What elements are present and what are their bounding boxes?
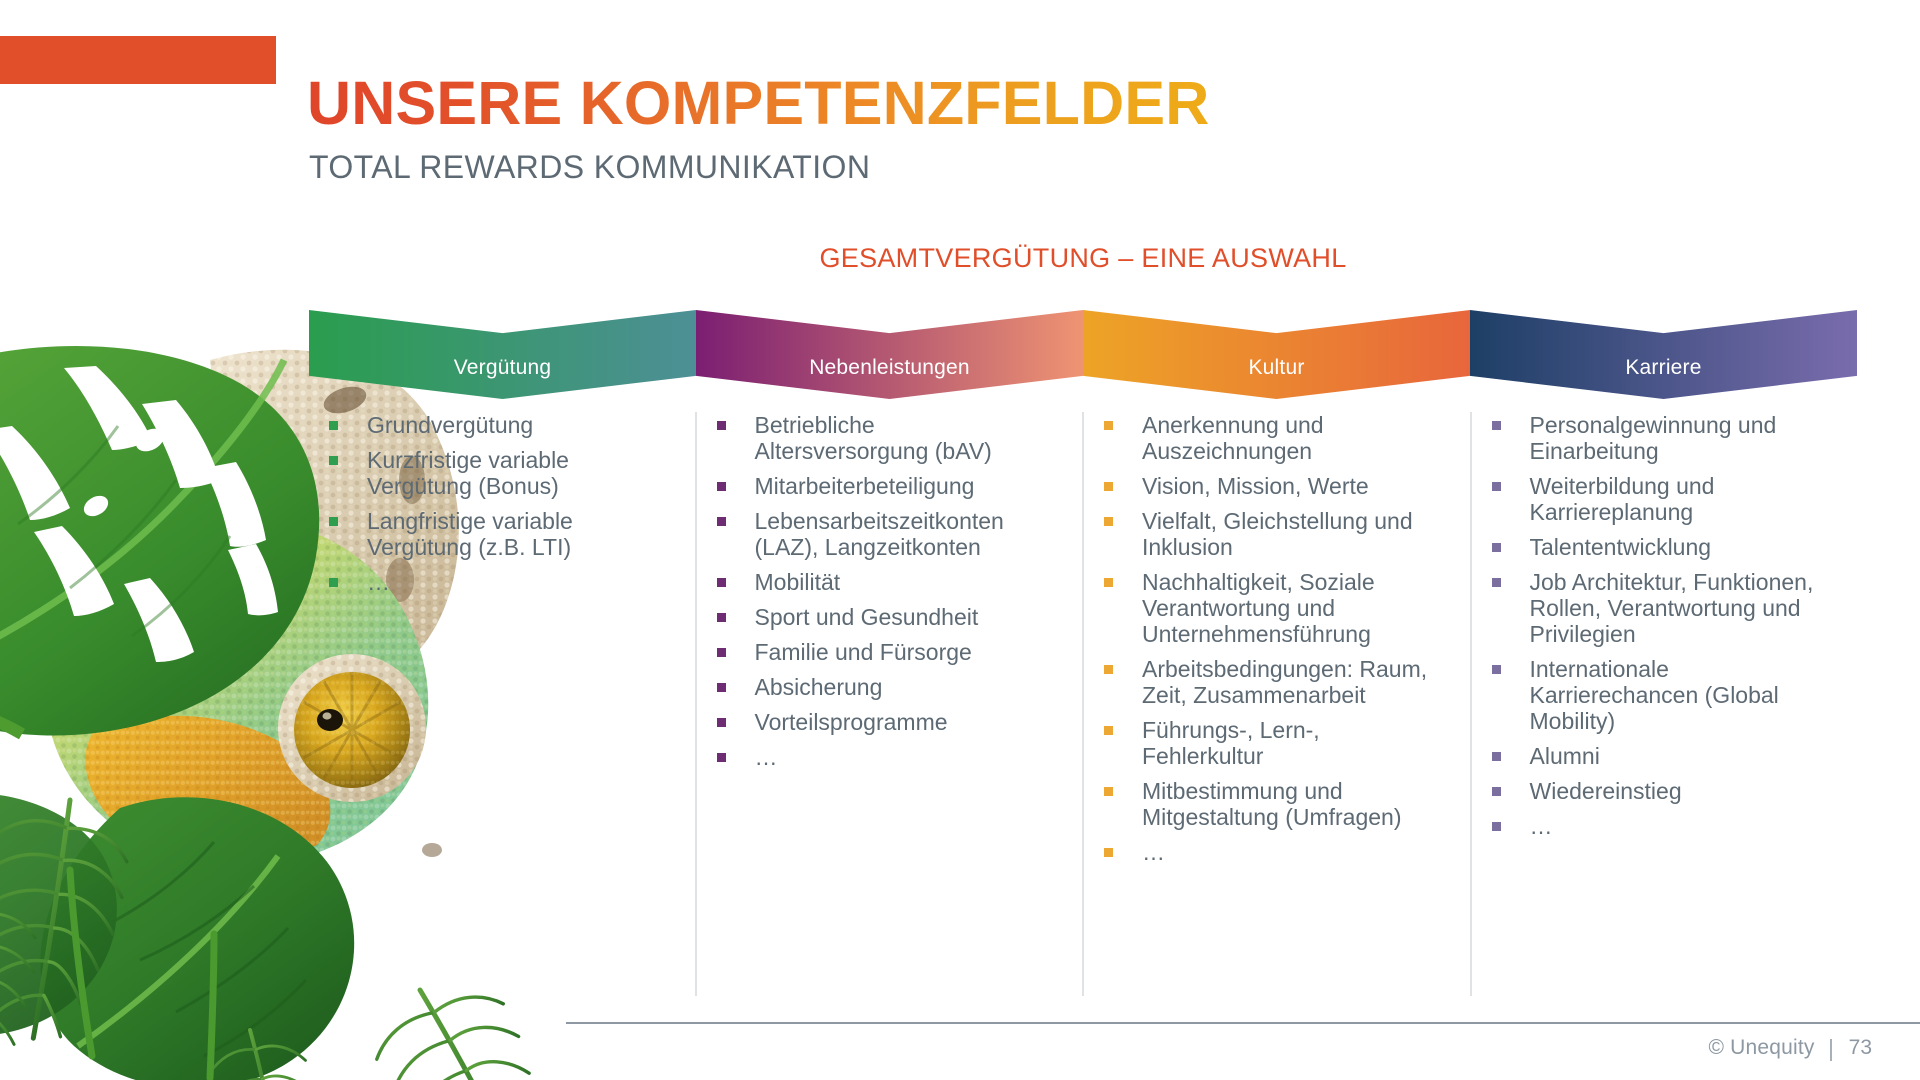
list-item-label: Grundvergütung xyxy=(367,412,533,438)
list-item: … xyxy=(327,569,661,595)
footer-separator xyxy=(1830,1039,1832,1061)
list-item-label: Internationale Karrierechancen (Global M… xyxy=(1530,656,1779,734)
list-item: Langfristige variable Vergütung (z.B. LT… xyxy=(327,508,661,560)
list-item-label: Nachhaltigkeit, Soziale Verantwortung un… xyxy=(1142,569,1375,647)
category-banner-3[interactable]: Kultur xyxy=(1083,310,1470,399)
square-bullet-icon xyxy=(1492,787,1501,796)
page-number: 73 xyxy=(1849,1036,1872,1060)
square-bullet-icon xyxy=(717,613,726,622)
category-column-3: Anerkennung und AuszeichnungenVision, Mi… xyxy=(1082,412,1470,996)
list-item: Wiedereinstieg xyxy=(1490,778,1824,804)
page-subtitle: TOTAL REWARDS KOMMUNIKATION xyxy=(309,149,870,186)
category-banner-2[interactable]: Nebenleistungen xyxy=(696,310,1083,399)
list-item: Grundvergütung xyxy=(327,412,661,438)
list-item-label: Job Architektur, Funktionen, Rollen, Ver… xyxy=(1530,569,1814,647)
square-bullet-icon xyxy=(1492,482,1501,491)
list-item: … xyxy=(1490,813,1824,839)
footer-divider xyxy=(566,1022,1920,1024)
category-banner-label: Karriere xyxy=(1625,357,1701,399)
copyright-label: © Unequity xyxy=(1708,1036,1814,1060)
square-bullet-icon xyxy=(1492,543,1501,552)
square-bullet-icon xyxy=(329,421,338,430)
square-bullet-icon xyxy=(717,578,726,587)
bullet-list: Personalgewinnung und EinarbeitungWeiter… xyxy=(1490,412,1824,839)
list-item-label: Vorteilsprogramme xyxy=(755,709,948,735)
square-bullet-icon xyxy=(1104,517,1113,526)
square-bullet-icon xyxy=(329,517,338,526)
square-bullet-icon xyxy=(1104,726,1113,735)
category-column-2: Betriebliche Altersversorgung (bAV)Mitar… xyxy=(695,412,1083,996)
list-item: Job Architektur, Funktionen, Rollen, Ver… xyxy=(1490,569,1824,647)
list-item-label: Absicherung xyxy=(755,674,883,700)
list-item: Familie und Fürsorge xyxy=(715,639,1049,665)
title-accent-bar xyxy=(0,36,276,84)
list-item: Weiterbildung und Karriereplanung xyxy=(1490,473,1824,525)
square-bullet-icon xyxy=(1104,578,1113,587)
bullet-list: Betriebliche Altersversorgung (bAV)Mitar… xyxy=(715,412,1049,770)
list-item: Führungs-, Lern-, Fehlerkultur xyxy=(1102,717,1436,769)
list-item: Sport und Gesundheit xyxy=(715,604,1049,630)
list-item: Alumni xyxy=(1490,743,1824,769)
list-item-label: … xyxy=(1530,813,1553,839)
square-bullet-icon xyxy=(717,683,726,692)
category-column-1: GrundvergütungKurzfristige variable Verg… xyxy=(309,412,695,996)
category-banner-row: VergütungNebenleistungenKulturKarriere xyxy=(309,310,1857,399)
category-banner-label: Nebenleistungen xyxy=(809,357,970,399)
square-bullet-icon xyxy=(1104,787,1113,796)
bullet-list: Anerkennung und AuszeichnungenVision, Mi… xyxy=(1102,412,1436,865)
list-item-label: Anerkennung und Auszeichnungen xyxy=(1142,412,1324,464)
page-title: UNSERE KOMPETENZFELDER xyxy=(307,73,1210,134)
list-item-label: Mobilität xyxy=(755,569,841,595)
square-bullet-icon xyxy=(1104,482,1113,491)
list-item-label: Vision, Mission, Werte xyxy=(1142,473,1369,499)
list-item: Vision, Mission, Werte xyxy=(1102,473,1436,499)
square-bullet-icon xyxy=(717,517,726,526)
list-item: Kurzfristige variable Vergütung (Bonus) xyxy=(327,447,661,499)
list-item-label: Kurzfristige variable Vergütung (Bonus) xyxy=(367,447,569,499)
square-bullet-icon xyxy=(1492,665,1501,674)
list-item-label: Weiterbildung und Karriereplanung xyxy=(1530,473,1715,525)
list-item-label: … xyxy=(755,744,778,770)
list-item: Nachhaltigkeit, Soziale Verantwortung un… xyxy=(1102,569,1436,647)
category-column-4: Personalgewinnung und EinarbeitungWeiter… xyxy=(1470,412,1858,996)
list-item: Mobilität xyxy=(715,569,1049,595)
square-bullet-icon xyxy=(717,421,726,430)
list-item-label: … xyxy=(367,569,390,595)
list-item: Internationale Karrierechancen (Global M… xyxy=(1490,656,1824,734)
square-bullet-icon xyxy=(1492,752,1501,761)
square-bullet-icon xyxy=(717,482,726,491)
list-item: Lebensarbeitszeitkonten (LAZ), Langzeitk… xyxy=(715,508,1049,560)
list-item: Vielfalt, Gleichstellung und Inklusion xyxy=(1102,508,1436,560)
list-item-label: Langfristige variable Vergütung (z.B. LT… xyxy=(367,508,573,560)
list-item: Personalgewinnung und Einarbeitung xyxy=(1490,412,1824,464)
square-bullet-icon xyxy=(329,456,338,465)
square-bullet-icon xyxy=(1104,665,1113,674)
square-bullet-icon xyxy=(717,753,726,762)
list-item: … xyxy=(1102,839,1436,865)
list-item: Arbeitsbedingungen: Raum, Zeit, Zusammen… xyxy=(1102,656,1436,708)
list-item-label: … xyxy=(1142,839,1165,865)
category-banner-1[interactable]: Vergütung xyxy=(309,310,696,399)
slide-canvas: UNSERE KOMPETENZFELDER TOTAL REWARDS KOM… xyxy=(0,0,1920,1080)
list-item: Betriebliche Altersversorgung (bAV) xyxy=(715,412,1049,464)
list-item-label: Vielfalt, Gleichstellung und Inklusion xyxy=(1142,508,1413,560)
list-item-label: Mitarbeiterbeteiligung xyxy=(755,473,975,499)
category-banner-label: Kultur xyxy=(1248,357,1304,399)
list-item: Mitarbeiterbeteiligung xyxy=(715,473,1049,499)
list-item-label: Talententwicklung xyxy=(1530,534,1712,560)
list-item-label: Wiedereinstieg xyxy=(1530,778,1682,804)
list-item-label: Personalgewinnung und Einarbeitung xyxy=(1530,412,1777,464)
list-item-label: Führungs-, Lern-, Fehlerkultur xyxy=(1142,717,1320,769)
square-bullet-icon xyxy=(1104,848,1113,857)
list-item: … xyxy=(715,744,1049,770)
category-banner-4[interactable]: Karriere xyxy=(1470,310,1857,399)
list-item-label: Mitbestimmung und Mitgestaltung (Umfrage… xyxy=(1142,778,1402,830)
list-item-label: Lebensarbeitszeitkonten (LAZ), Langzeitk… xyxy=(755,508,1004,560)
square-bullet-icon xyxy=(1492,421,1501,430)
category-columns: GrundvergütungKurzfristige variable Verg… xyxy=(309,412,1857,996)
list-item: Vorteilsprogramme xyxy=(715,709,1049,735)
square-bullet-icon xyxy=(717,648,726,657)
section-heading: GESAMTVERGÜTUNG – EINE AUSWAHL xyxy=(309,243,1857,274)
square-bullet-icon xyxy=(1492,822,1501,831)
list-item-label: Alumni xyxy=(1530,743,1600,769)
list-item: Talententwicklung xyxy=(1490,534,1824,560)
list-item-label: Betriebliche Altersversorgung (bAV) xyxy=(755,412,992,464)
square-bullet-icon xyxy=(1492,578,1501,587)
list-item-label: Sport und Gesundheit xyxy=(755,604,979,630)
square-bullet-icon xyxy=(717,718,726,727)
list-item: Absicherung xyxy=(715,674,1049,700)
footer: © Unequity 73 xyxy=(1708,1036,1872,1060)
list-item-label: Arbeitsbedingungen: Raum, Zeit, Zusammen… xyxy=(1142,656,1427,708)
list-item-label: Familie und Fürsorge xyxy=(755,639,972,665)
category-banner-label: Vergütung xyxy=(454,357,552,399)
square-bullet-icon xyxy=(329,578,338,587)
square-bullet-icon xyxy=(1104,421,1113,430)
bullet-list: GrundvergütungKurzfristige variable Verg… xyxy=(327,412,661,595)
list-item: Anerkennung und Auszeichnungen xyxy=(1102,412,1436,464)
list-item: Mitbestimmung und Mitgestaltung (Umfrage… xyxy=(1102,778,1436,830)
